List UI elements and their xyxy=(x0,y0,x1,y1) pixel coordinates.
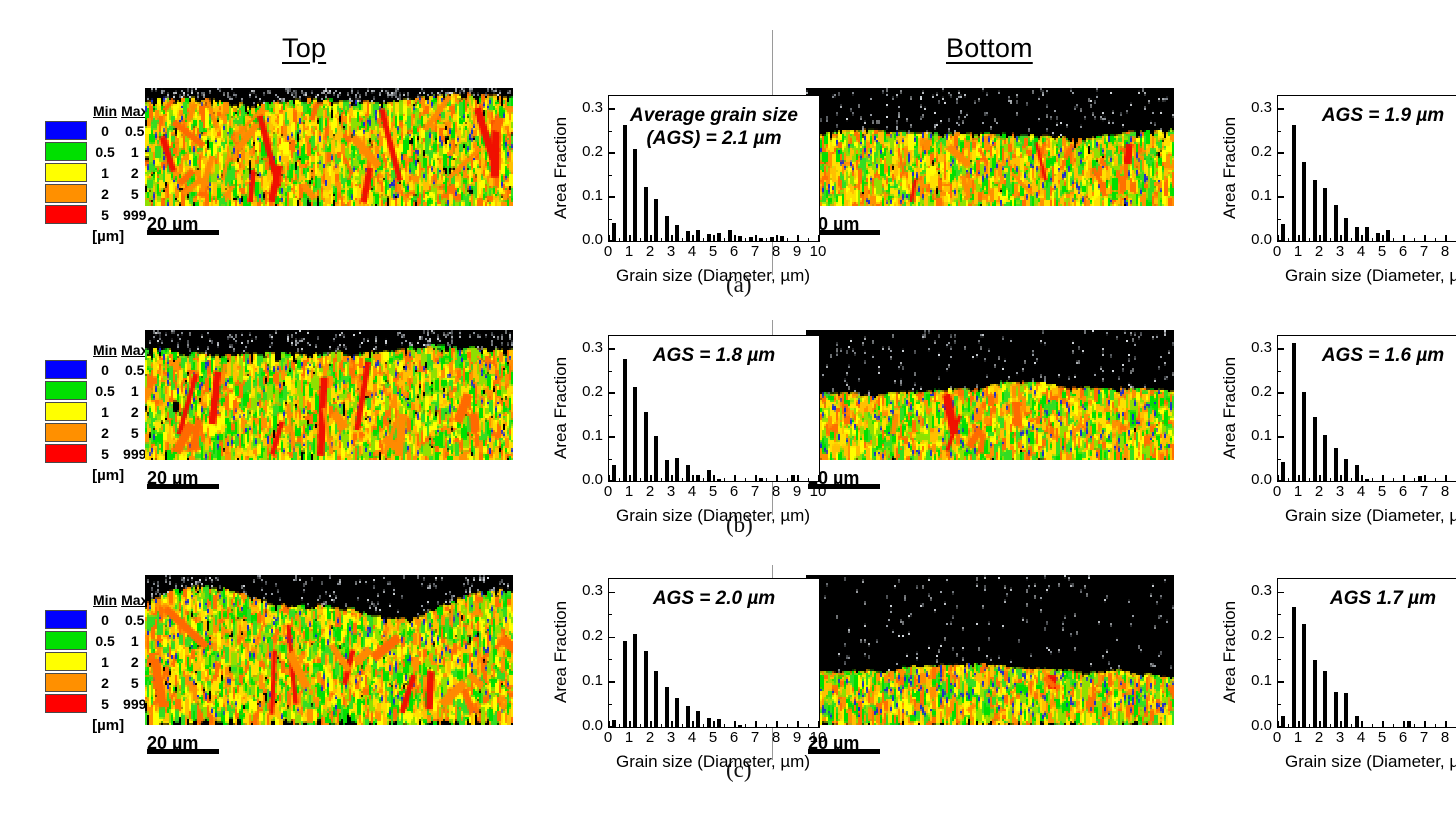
histogram-bar xyxy=(644,187,648,241)
x-axis-minor-tick xyxy=(640,238,641,241)
x-axis-minor-tick xyxy=(619,238,620,241)
histogram-bar xyxy=(717,233,721,241)
histogram-bar xyxy=(1302,162,1306,241)
histogram-bar xyxy=(675,225,679,241)
x-axis-tick-label: 10 xyxy=(804,483,832,500)
histogram-bar xyxy=(1334,692,1338,727)
x-axis-tick xyxy=(1403,721,1405,727)
y-axis-tick xyxy=(1278,240,1284,242)
histogram-bar xyxy=(1313,417,1317,481)
x-axis-label: Grain size (Diameter, µm) xyxy=(1285,506,1456,526)
x-axis-label: Grain size (Diameter, µm) xyxy=(616,266,810,286)
y-axis-tick xyxy=(1278,681,1284,683)
x-axis-tick xyxy=(1319,475,1321,481)
y-axis-tick-label: 0.1 xyxy=(567,427,603,444)
x-axis-minor-tick xyxy=(1288,478,1289,481)
legend-unit-label: [µm] xyxy=(45,464,150,485)
y-axis-minor-tick xyxy=(1278,219,1281,220)
x-axis-tick xyxy=(1361,475,1363,481)
x-axis-minor-tick xyxy=(1414,478,1415,481)
x-axis-minor-tick xyxy=(808,238,809,241)
legend-row: 5999 xyxy=(45,204,150,225)
x-axis-minor-tick xyxy=(787,478,788,481)
histogram-bar xyxy=(1292,125,1296,241)
legend-min-value: 1 xyxy=(91,401,119,422)
legend-min-value: 5 xyxy=(91,693,119,714)
histogram-bar xyxy=(1281,462,1285,481)
x-axis-minor-tick xyxy=(787,724,788,727)
x-axis-minor-tick xyxy=(1372,724,1373,727)
y-axis-tick xyxy=(1278,152,1284,154)
histogram-a-bottom: Area Fraction0123456789100.00.10.20.3AGS… xyxy=(1222,95,1456,298)
y-axis-tick xyxy=(1278,436,1284,438)
plot-area: AGS = 1.9 µm xyxy=(1277,95,1456,242)
x-axis-label: Grain size (Diameter, µm) xyxy=(616,752,810,772)
histogram-bar xyxy=(1334,448,1338,481)
legend-color-swatch xyxy=(45,205,87,224)
x-axis-tick xyxy=(1382,721,1384,727)
y-axis-minor-tick xyxy=(609,219,612,220)
histogram-bar xyxy=(1365,479,1369,481)
legend-min-value: 0.5 xyxy=(91,630,119,651)
x-axis-minor-tick xyxy=(745,238,746,241)
scale-bar-line xyxy=(147,230,219,235)
histogram-bar xyxy=(1376,233,1380,241)
legend-unit-label: [µm] xyxy=(45,714,150,735)
histogram-bar xyxy=(623,359,627,481)
scale-bar-line xyxy=(147,749,219,754)
x-axis-tick xyxy=(692,475,694,481)
x-axis-tick-label: 9 xyxy=(1452,243,1456,260)
histogram-c-bottom: Area Fraction0123456789100.00.10.20.3AGS… xyxy=(1222,578,1456,784)
x-axis-tick-label: 9 xyxy=(1452,483,1456,500)
x-axis-tick xyxy=(713,235,715,241)
legend-header-min: Min xyxy=(91,342,119,359)
histogram-bar xyxy=(665,687,669,727)
histogram-bar xyxy=(717,479,721,481)
histogram-bar xyxy=(1323,435,1327,481)
ebsd-grain-map xyxy=(145,88,513,206)
x-axis-tick xyxy=(1340,235,1342,241)
x-axis-tick xyxy=(650,721,652,727)
histogram-bar xyxy=(665,460,669,481)
x-axis-tick xyxy=(671,721,673,727)
histogram-bar xyxy=(675,698,679,727)
x-axis-minor-tick xyxy=(619,724,620,727)
grain-size-legend-row-a: MinMax00.50.5112255999[µm] xyxy=(45,103,153,246)
y-axis-minor-tick xyxy=(609,371,612,372)
histogram-bar xyxy=(696,711,700,727)
x-axis-tick xyxy=(1361,235,1363,241)
x-axis-minor-tick xyxy=(787,238,788,241)
y-axis-tick-label: 0.2 xyxy=(1236,627,1272,644)
histogram-bar xyxy=(675,458,679,481)
x-axis-label: Grain size (Diameter, µm) xyxy=(1285,266,1456,286)
histogram-bar xyxy=(707,718,711,727)
histogram-bar xyxy=(759,238,763,242)
y-axis-minor-tick xyxy=(1278,131,1281,132)
x-axis-tick xyxy=(1445,235,1447,241)
x-axis-minor-tick xyxy=(640,724,641,727)
y-axis-minor-tick xyxy=(609,659,612,660)
ags-annotation: AGS = 1.8 µm xyxy=(609,344,819,367)
x-axis-minor-tick xyxy=(808,724,809,727)
scale-bar: 20 µm xyxy=(147,731,198,754)
ags-annotation: Average grain size (AGS) = 2.1 µm xyxy=(609,104,819,150)
histogram-bar xyxy=(1313,660,1317,727)
x-axis-tick xyxy=(755,475,757,481)
x-axis-minor-tick xyxy=(1330,478,1331,481)
histogram-bar xyxy=(749,237,753,241)
x-axis-minor-tick xyxy=(1435,478,1436,481)
x-axis-minor-tick xyxy=(724,238,725,241)
legend-color-swatch xyxy=(45,652,87,671)
x-axis-minor-tick xyxy=(1351,238,1352,241)
legend-min-value: 2 xyxy=(91,422,119,443)
y-axis-tick xyxy=(1278,196,1284,198)
histogram-b-bottom: Area Fraction0123456789100.00.10.20.3AGS… xyxy=(1222,335,1456,538)
legend-min-value: 5 xyxy=(91,443,119,464)
legend-color-swatch xyxy=(45,610,87,629)
histogram-bar xyxy=(1313,180,1317,242)
legend-color-swatch xyxy=(45,142,87,161)
histogram-bar xyxy=(623,641,627,727)
y-axis-tick xyxy=(1278,392,1284,394)
legend-min-value: 0 xyxy=(91,120,119,141)
micrograph-panel-b-top: 20 µm xyxy=(145,330,513,460)
x-axis-tick xyxy=(713,475,715,481)
histogram-bar xyxy=(738,725,742,727)
legend-color-swatch xyxy=(45,673,87,692)
histogram-bar xyxy=(1355,227,1359,241)
y-axis-tick xyxy=(609,726,615,728)
histogram-c-top: Area Fraction0123456789100.00.10.20.3AGS… xyxy=(553,578,823,784)
y-axis-tick-label: 0.1 xyxy=(567,672,603,689)
legend-min-value: 2 xyxy=(91,672,119,693)
x-axis-minor-tick xyxy=(703,724,704,727)
y-axis-minor-tick xyxy=(1278,704,1281,705)
legend-color-swatch xyxy=(45,402,87,421)
micrograph-panel-a-bottom: 20 µm xyxy=(806,88,1174,206)
y-axis-minor-tick xyxy=(1278,175,1281,176)
y-axis-tick-label: 0.3 xyxy=(1236,99,1272,116)
x-axis-minor-tick xyxy=(1309,238,1310,241)
x-axis-tick xyxy=(797,235,799,241)
y-axis-tick xyxy=(609,681,615,683)
x-axis-tick xyxy=(629,721,631,727)
x-axis-minor-tick xyxy=(745,724,746,727)
grain-size-legend-row-b: MinMax00.50.5112255999[µm] xyxy=(45,342,153,485)
legend-color-swatch xyxy=(45,444,87,463)
x-axis-tick xyxy=(755,721,757,727)
histogram-bar xyxy=(1334,205,1338,241)
histogram-bar xyxy=(633,634,637,727)
x-axis-tick xyxy=(1445,721,1447,727)
x-axis-tick xyxy=(671,235,673,241)
histogram-b-top: Area Fraction0123456789100.00.10.20.3AGS… xyxy=(553,335,823,538)
y-axis-tick xyxy=(609,480,615,482)
y-axis-tick-label: 0.3 xyxy=(567,99,603,116)
legend-row: 12 xyxy=(45,162,150,183)
histogram-bar xyxy=(1323,188,1327,241)
legend-color-swatch xyxy=(45,121,87,140)
x-axis-tick xyxy=(1319,721,1321,727)
ags-annotation: AGS = 2.0 µm xyxy=(609,587,819,610)
x-axis-minor-tick xyxy=(1351,478,1352,481)
legend-min-value: 5 xyxy=(91,204,119,225)
x-axis-tick xyxy=(797,475,799,481)
histogram-bar xyxy=(696,230,700,241)
histogram-bar xyxy=(707,234,711,241)
histogram-bar xyxy=(686,706,690,727)
y-axis-tick xyxy=(609,240,615,242)
histogram-bar xyxy=(654,671,658,727)
legend-row: 25 xyxy=(45,672,150,693)
y-axis-minor-tick xyxy=(1278,659,1281,660)
x-axis-minor-tick xyxy=(703,478,704,481)
legend-unit-label: [µm] xyxy=(45,225,150,246)
y-axis-tick xyxy=(609,436,615,438)
x-axis-label: Grain size (Diameter, µm) xyxy=(1285,752,1456,772)
y-axis-tick-label: 0.2 xyxy=(1236,143,1272,160)
x-axis-minor-tick xyxy=(640,478,641,481)
y-axis-tick-label: 0.2 xyxy=(567,383,603,400)
x-axis-minor-tick xyxy=(1330,724,1331,727)
x-axis-minor-tick xyxy=(1393,478,1394,481)
y-axis-tick-label: 0.3 xyxy=(567,582,603,599)
histogram-bar xyxy=(1355,716,1359,727)
legend-min-value: 0.5 xyxy=(91,141,119,162)
legend-row: 25 xyxy=(45,183,150,204)
x-axis-tick-label: 10 xyxy=(804,243,832,260)
histogram-bar xyxy=(654,199,658,241)
y-axis-tick-label: 0.0 xyxy=(1236,231,1272,248)
x-axis-minor-tick xyxy=(619,478,620,481)
x-axis-tick xyxy=(1403,235,1405,241)
legend-color-swatch xyxy=(45,423,87,442)
x-axis-minor-tick xyxy=(1288,724,1289,727)
legend-row: 0.51 xyxy=(45,141,150,162)
y-axis-minor-tick xyxy=(609,459,612,460)
histogram-bar xyxy=(1292,607,1296,727)
legend-row: 5999 xyxy=(45,443,150,464)
x-axis-minor-tick xyxy=(766,724,767,727)
y-axis-tick xyxy=(609,196,615,198)
x-axis-minor-tick xyxy=(1372,238,1373,241)
legend-row: 00.5 xyxy=(45,120,150,141)
histogram-bar xyxy=(770,237,774,241)
histogram-bar xyxy=(759,478,763,481)
x-axis-minor-tick xyxy=(661,238,662,241)
legend-row: 12 xyxy=(45,651,150,672)
micrograph-panel-c-top: 20 µm xyxy=(145,575,513,725)
legend-header-min: Min xyxy=(91,103,119,120)
x-axis-tick xyxy=(1340,721,1342,727)
y-axis-tick-label: 0.3 xyxy=(1236,339,1272,356)
y-axis-tick xyxy=(1278,637,1284,639)
ebsd-grain-map xyxy=(806,88,1174,206)
x-axis-minor-tick xyxy=(682,238,683,241)
y-axis-tick-label: 0.3 xyxy=(567,339,603,356)
x-axis-tick xyxy=(713,721,715,727)
x-axis-minor-tick xyxy=(745,478,746,481)
x-axis-tick xyxy=(692,235,694,241)
legend-min-value: 1 xyxy=(91,162,119,183)
histogram-bar xyxy=(1281,224,1285,241)
ags-annotation: AGS = 1.6 µm xyxy=(1278,344,1456,367)
histogram-bar xyxy=(696,475,700,481)
legend-min-value: 1 xyxy=(91,651,119,672)
x-axis-tick xyxy=(776,721,778,727)
y-axis-tick xyxy=(1278,480,1284,482)
histogram-bar xyxy=(633,387,637,481)
histogram-bar xyxy=(1407,721,1411,727)
x-axis-minor-tick xyxy=(1351,724,1352,727)
legend-row: 00.5 xyxy=(45,359,150,380)
y-axis-tick-label: 0.2 xyxy=(1236,383,1272,400)
ags-annotation: AGS 1.7 µm xyxy=(1278,587,1456,610)
x-axis-tick xyxy=(1424,235,1426,241)
histogram-bar xyxy=(633,149,637,241)
histogram-bar xyxy=(780,236,784,241)
y-axis-tick-label: 0.2 xyxy=(567,143,603,160)
histogram-bar xyxy=(1344,218,1348,241)
x-axis-tick xyxy=(818,721,820,727)
legend-color-swatch xyxy=(45,184,87,203)
x-axis-tick xyxy=(1298,235,1300,241)
y-axis-minor-tick xyxy=(1278,459,1281,460)
histogram-bar xyxy=(1344,459,1348,481)
x-axis-tick xyxy=(1319,235,1321,241)
y-axis-tick xyxy=(609,152,615,154)
ebsd-grain-map xyxy=(145,330,513,460)
micrograph-panel-b-bottom: 20 µm xyxy=(806,330,1174,460)
legend-row: 0.51 xyxy=(45,380,150,401)
y-axis-tick-label: 0.1 xyxy=(1236,187,1272,204)
x-axis-minor-tick xyxy=(724,478,725,481)
histogram-bar xyxy=(686,465,690,481)
histogram-bar xyxy=(1418,476,1422,481)
legend-row: 5999 xyxy=(45,693,150,714)
histogram-bar xyxy=(717,719,721,727)
x-axis-tick xyxy=(1298,721,1300,727)
micrograph-panel-a-top: 20 µm xyxy=(145,88,513,206)
x-axis-minor-tick xyxy=(661,724,662,727)
x-axis-minor-tick xyxy=(766,238,767,241)
legend-color-swatch xyxy=(45,694,87,713)
scale-bar: 20 µm xyxy=(147,466,198,489)
histogram-bar xyxy=(654,436,658,481)
x-axis-tick xyxy=(776,235,778,241)
legend-color-swatch xyxy=(45,631,87,650)
x-axis-minor-tick xyxy=(1393,238,1394,241)
ebsd-grain-map xyxy=(806,330,1174,460)
column-heading-bottom: Bottom xyxy=(946,33,1033,64)
y-axis-tick-label: 0.2 xyxy=(567,627,603,644)
x-axis-tick xyxy=(1361,721,1363,727)
legend-row: 25 xyxy=(45,422,150,443)
y-axis-tick-label: 0.0 xyxy=(567,231,603,248)
y-axis-minor-tick xyxy=(1278,415,1281,416)
x-axis-tick xyxy=(818,235,820,241)
plot-area: Average grain size (AGS) = 2.1 µm xyxy=(608,95,820,242)
legend-color-swatch xyxy=(45,360,87,379)
legend-row: 12 xyxy=(45,401,150,422)
y-axis-minor-tick xyxy=(609,614,612,615)
scale-bar-line xyxy=(147,484,219,489)
y-axis-tick-label: 0.0 xyxy=(567,471,603,488)
x-axis-minor-tick xyxy=(724,724,725,727)
x-axis-minor-tick xyxy=(661,478,662,481)
scale-bar: 20 µm xyxy=(147,212,198,235)
histogram-a-top: Area Fraction0123456789100.00.10.20.3Ave… xyxy=(553,95,823,298)
x-axis-tick-label: 9 xyxy=(1452,729,1456,746)
histogram-bar xyxy=(791,475,795,481)
x-axis-minor-tick xyxy=(1414,724,1415,727)
histogram-bar xyxy=(1344,693,1348,727)
y-axis-tick-label: 0.0 xyxy=(567,717,603,734)
legend-max-value: 999 xyxy=(119,204,150,225)
y-axis-minor-tick xyxy=(609,415,612,416)
histogram-bar xyxy=(728,230,732,241)
x-axis-tick xyxy=(671,475,673,481)
x-axis-tick xyxy=(734,235,736,241)
x-axis-tick xyxy=(1382,235,1384,241)
x-axis-tick xyxy=(1445,475,1447,481)
x-axis-tick xyxy=(1403,475,1405,481)
x-axis-minor-tick xyxy=(808,478,809,481)
legend-color-swatch xyxy=(45,163,87,182)
histogram-bar xyxy=(686,231,690,241)
x-axis-tick xyxy=(629,235,631,241)
x-axis-tick xyxy=(734,475,736,481)
x-axis-minor-tick xyxy=(1309,724,1310,727)
legend-color-swatch xyxy=(45,381,87,400)
legend-min-value: 0 xyxy=(91,609,119,630)
x-axis-tick xyxy=(1298,475,1300,481)
x-axis-minor-tick xyxy=(1414,238,1415,241)
y-axis-minor-tick xyxy=(1278,614,1281,615)
y-axis-tick-label: 0.3 xyxy=(1236,582,1272,599)
x-axis-tick xyxy=(650,235,652,241)
y-axis-minor-tick xyxy=(609,704,612,705)
legend-row: 00.5 xyxy=(45,609,150,630)
ebsd-grain-map xyxy=(806,575,1174,725)
y-axis-tick-label: 0.1 xyxy=(1236,427,1272,444)
y-axis-tick xyxy=(1278,726,1284,728)
x-axis-minor-tick xyxy=(766,478,767,481)
histogram-bar xyxy=(1302,392,1306,481)
x-axis-tick xyxy=(797,721,799,727)
x-axis-tick xyxy=(734,721,736,727)
histogram-bar xyxy=(1386,230,1390,241)
x-axis-minor-tick xyxy=(1309,478,1310,481)
x-axis-tick xyxy=(1424,721,1426,727)
x-axis-minor-tick xyxy=(1435,724,1436,727)
x-axis-tick xyxy=(1424,475,1426,481)
x-axis-tick xyxy=(692,721,694,727)
x-axis-minor-tick xyxy=(1372,478,1373,481)
ags-annotation: AGS = 1.9 µm xyxy=(1278,104,1456,127)
micrograph-panel-c-bottom: 20 µm xyxy=(806,575,1174,725)
histogram-bar xyxy=(1365,227,1369,242)
x-axis-minor-tick xyxy=(1288,238,1289,241)
plot-area: AGS = 2.0 µm xyxy=(608,578,820,728)
grain-size-legend-row-c: MinMax00.50.5112255999[µm] xyxy=(45,592,153,735)
x-axis-minor-tick xyxy=(682,724,683,727)
histogram-bar xyxy=(612,223,616,241)
y-axis-minor-tick xyxy=(1278,371,1281,372)
